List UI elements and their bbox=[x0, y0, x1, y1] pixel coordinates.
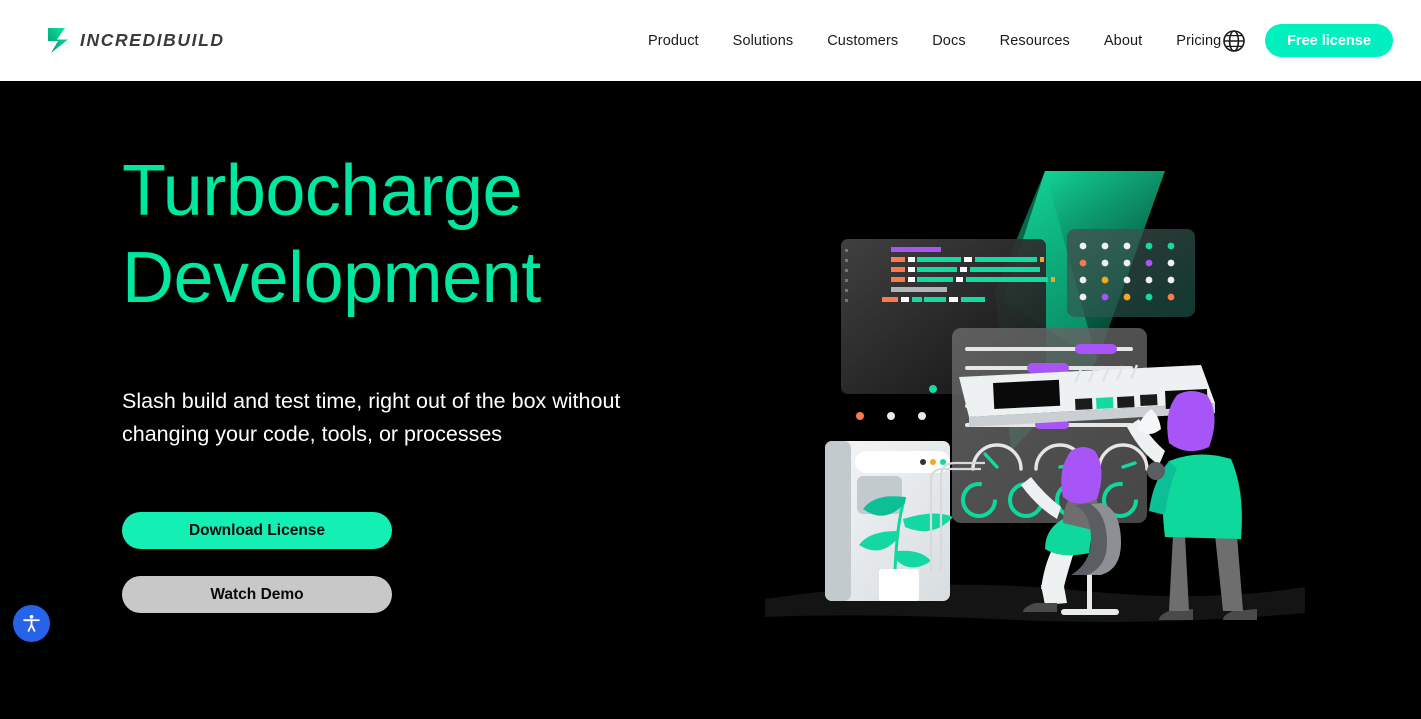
hero-cta-group: Download License Watch Demo bbox=[122, 512, 392, 613]
hero-illustration bbox=[745, 151, 1345, 631]
accessibility-person-icon bbox=[21, 613, 42, 634]
nav-item-resources[interactable]: Resources bbox=[983, 33, 1087, 49]
hero-subtitle: Slash build and test time, right out of … bbox=[122, 385, 682, 451]
watch-demo-button[interactable]: Watch Demo bbox=[122, 576, 392, 613]
page-root: INCREDIBUILD Product Solutions Customers… bbox=[0, 0, 1421, 719]
free-license-button[interactable]: Free license bbox=[1265, 24, 1393, 57]
main-navigation: Product Solutions Customers Docs Resourc… bbox=[648, 0, 1238, 81]
globe-icon bbox=[1221, 28, 1247, 54]
incredibuild-logo-text: INCREDIBUILD bbox=[80, 30, 225, 51]
download-license-button[interactable]: Download License bbox=[122, 512, 392, 549]
accessibility-widget[interactable] bbox=[13, 605, 50, 642]
nav-item-about[interactable]: About bbox=[1087, 33, 1159, 49]
nav-item-customers[interactable]: Customers bbox=[810, 33, 915, 49]
hero-title: Turbocharge Development bbox=[122, 148, 722, 322]
nav-item-docs[interactable]: Docs bbox=[915, 33, 982, 49]
incredibuild-logo[interactable]: INCREDIBUILD bbox=[45, 26, 225, 54]
server-box bbox=[825, 441, 953, 601]
hero-section: Turbocharge Development Slash build and … bbox=[0, 81, 1421, 719]
nav-item-solutions[interactable]: Solutions bbox=[716, 33, 811, 49]
language-selector[interactable] bbox=[1221, 28, 1247, 54]
hero-copy: Turbocharge Development bbox=[122, 148, 722, 322]
hero-illustration-graphic bbox=[745, 151, 1345, 631]
incredibuild-logo-icon bbox=[45, 26, 71, 54]
nav-item-product[interactable]: Product bbox=[648, 33, 716, 49]
site-header: INCREDIBUILD Product Solutions Customers… bbox=[0, 0, 1421, 81]
dot-grid-panel bbox=[1067, 229, 1195, 317]
